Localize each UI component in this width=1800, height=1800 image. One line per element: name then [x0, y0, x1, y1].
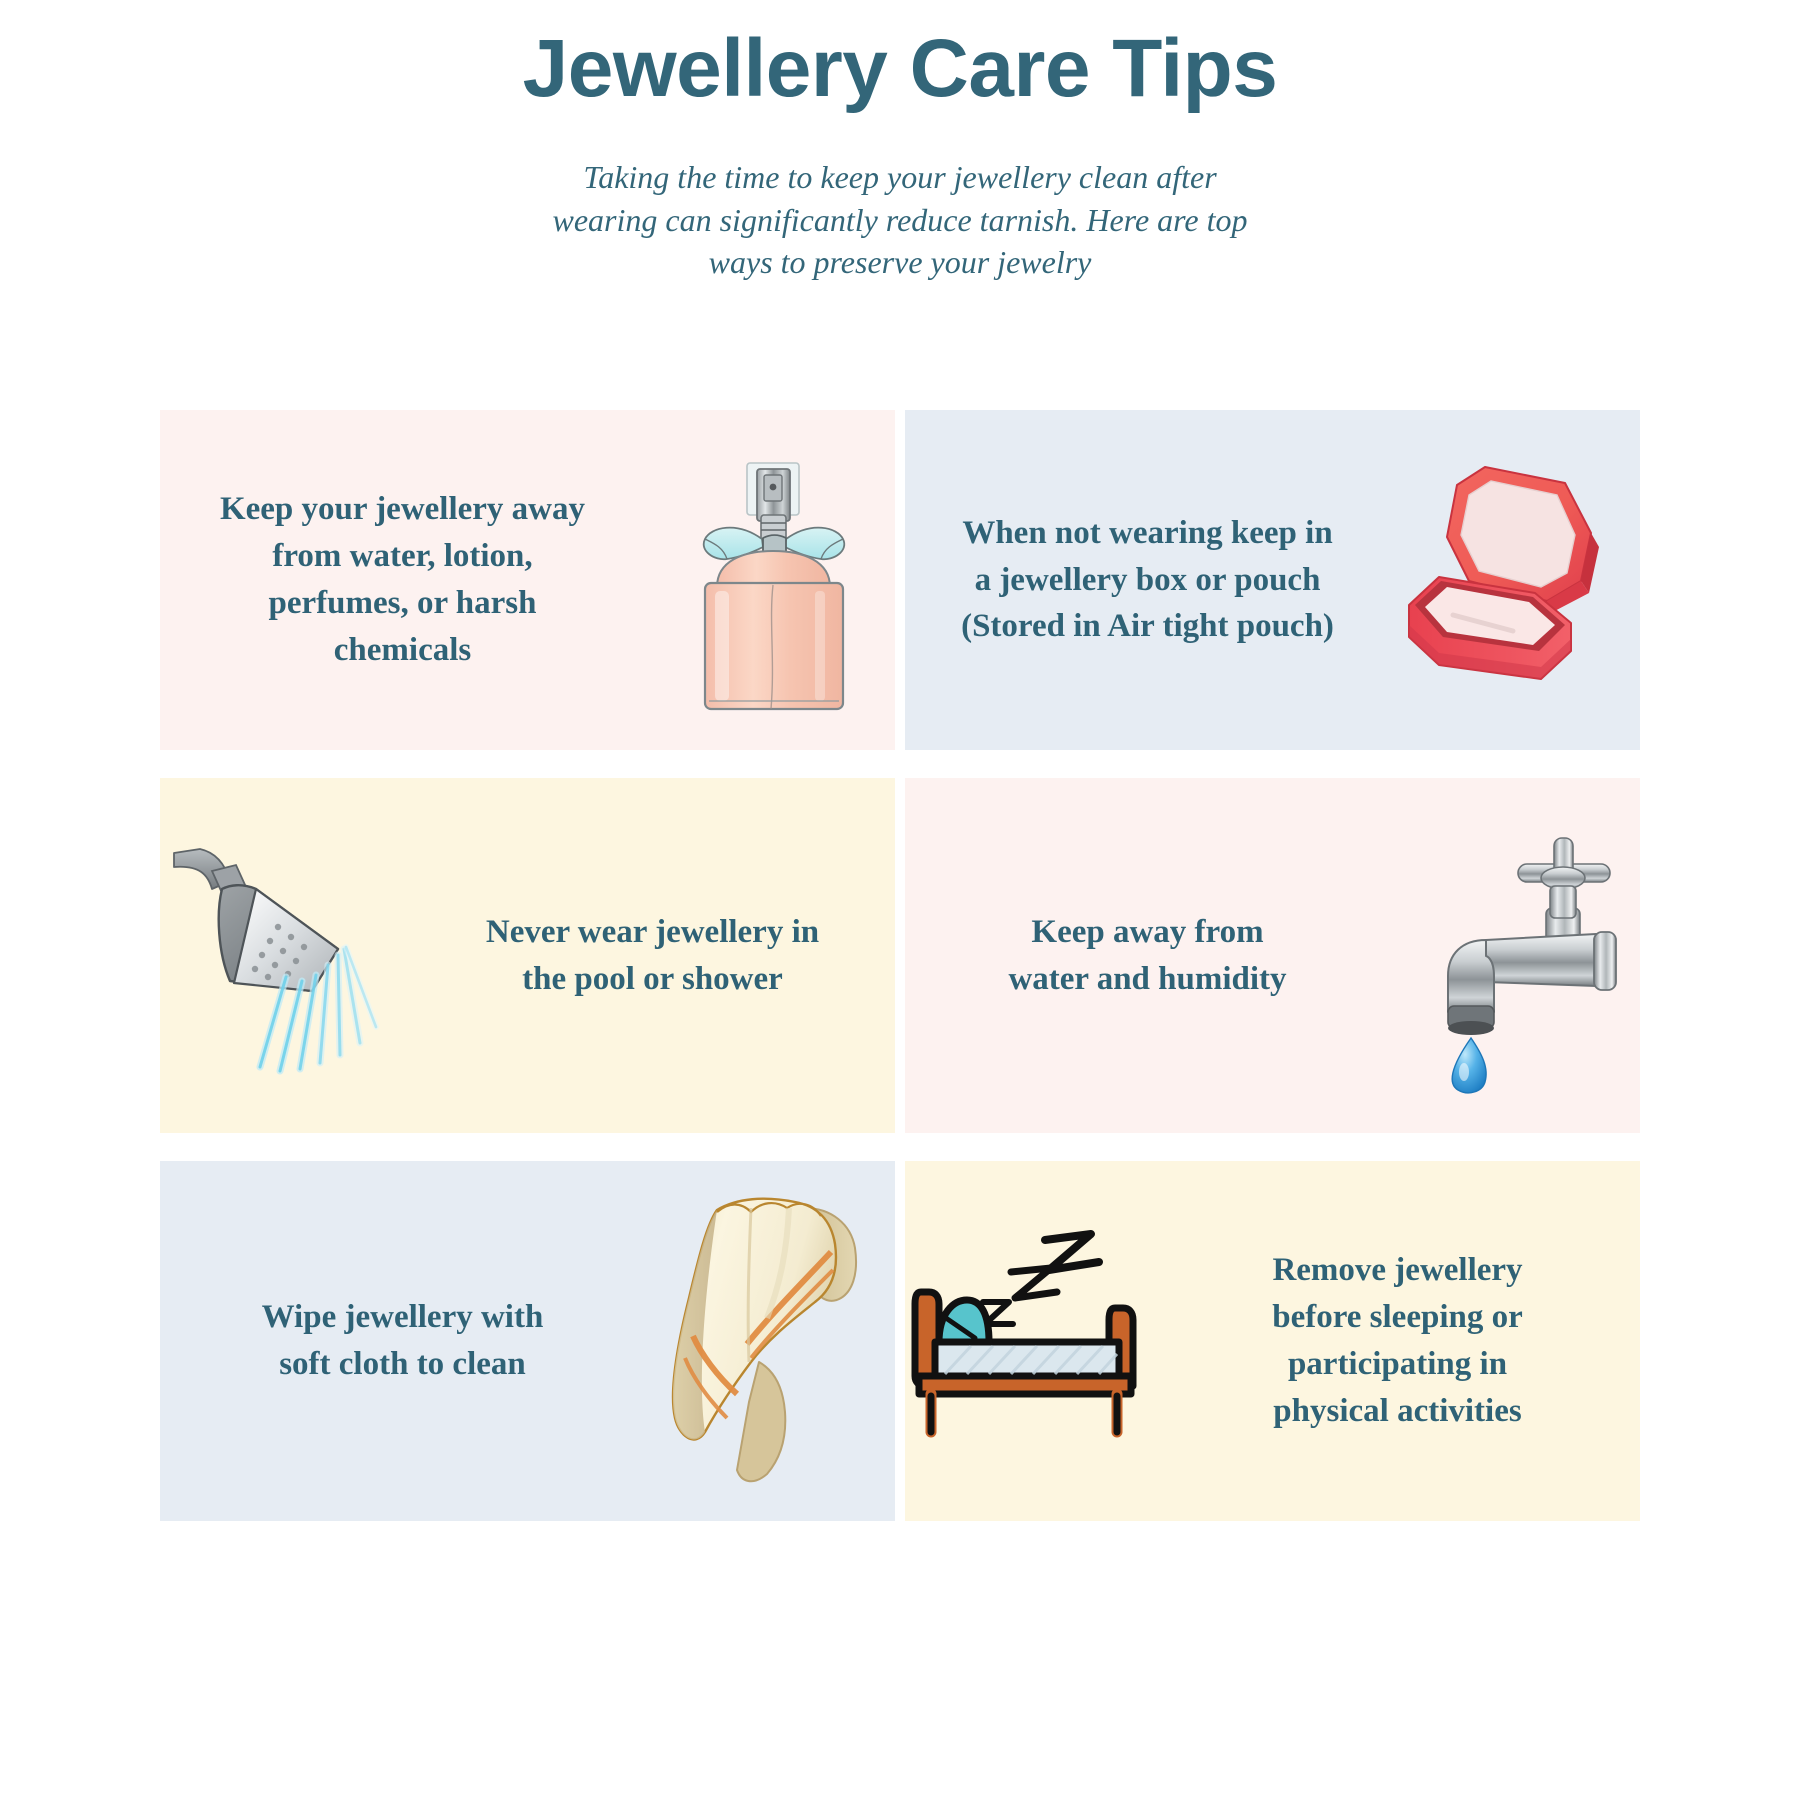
card-chemicals-label: Keep your jewellery away from water, lot…	[203, 486, 603, 673]
card-humidity: Keep away from water and humidity	[905, 778, 1640, 1133]
card-storage-label: When not wearing keep in a jewellery box…	[958, 510, 1338, 651]
card-wipe-cloth-label: Wipe jewellery with soft cloth to clean	[248, 1294, 558, 1388]
card-storage: When not wearing keep in a jewellery box…	[905, 410, 1640, 750]
card-pool-shower: Never wear jewellery in the pool or show…	[160, 778, 895, 1133]
card-humidity-label: Keep away from water and humidity	[993, 909, 1303, 1003]
tips-grid: Keep your jewellery away from water, lot…	[160, 410, 1640, 1521]
card-wipe-cloth: Wipe jewellery with soft cloth to clean	[160, 1161, 895, 1521]
perfume-bottle-icon	[645, 410, 895, 750]
shower-head-icon	[160, 778, 410, 1133]
header: Jewellery Care Tips Taking the time to k…	[0, 0, 1800, 284]
ring-box-icon	[1390, 410, 1640, 750]
page-subtitle: Taking the time to keep your jewellery c…	[550, 156, 1250, 284]
infographic-page: Jewellery Care Tips Taking the time to k…	[0, 0, 1800, 1800]
card-sleeping-label: Remove jewellery before sleeping or part…	[1253, 1247, 1543, 1434]
faucet-drip-icon	[1390, 778, 1640, 1133]
card-pool-shower-label: Never wear jewellery in the pool or show…	[483, 909, 823, 1003]
card-chemicals: Keep your jewellery away from water, lot…	[160, 410, 895, 750]
polishing-cloth-icon	[645, 1161, 895, 1521]
bed-sleeping-icon	[905, 1161, 1155, 1521]
card-sleeping: Remove jewellery before sleeping or part…	[905, 1161, 1640, 1521]
page-title: Jewellery Care Tips	[0, 22, 1800, 116]
